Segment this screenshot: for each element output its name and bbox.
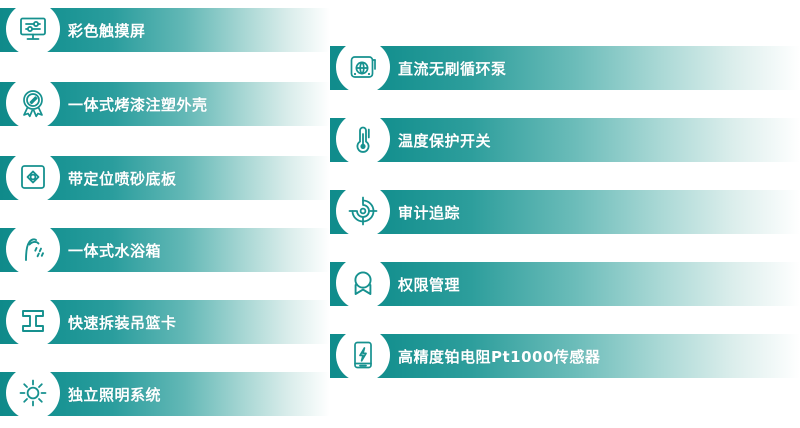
feature-label: 一体式水浴箱 — [68, 222, 161, 278]
feature-list-graphic: 彩色触摸屏 一体式烤漆注塑外壳 带定位喷砂底板 一体式水浴箱 快速拆装吊篮卡 — [0, 0, 800, 428]
feature-row: 快速拆装吊篮卡 — [0, 294, 330, 350]
icon-bubble — [336, 112, 390, 166]
feature-row: 直流无刷循环泵 — [330, 40, 800, 96]
award-ribbon-icon — [17, 87, 49, 119]
feature-row: 权限管理 — [330, 256, 800, 312]
icon-bubble — [336, 184, 390, 238]
feature-label: 高精度铂电阻Pt1000传感器 — [398, 328, 600, 384]
icon-bubble — [6, 2, 60, 56]
lightning-sensor-icon — [347, 339, 379, 371]
feature-label: 快速拆装吊篮卡 — [68, 294, 177, 350]
target-crosshair-icon — [347, 195, 379, 227]
icon-bubble — [6, 76, 60, 130]
feature-label: 独立照明系统 — [68, 366, 161, 422]
icon-bubble — [336, 40, 390, 94]
feature-label: 审计追踪 — [398, 184, 460, 240]
feature-row: 彩色触摸屏 — [0, 2, 330, 58]
feature-row: 带定位喷砂底板 — [0, 150, 330, 206]
i-beam-clamp-icon — [17, 305, 49, 337]
feature-label: 直流无刷循环泵 — [398, 40, 507, 96]
icon-bubble — [6, 150, 60, 204]
circulation-pump-icon — [347, 51, 379, 83]
feature-label: 权限管理 — [398, 256, 460, 312]
sun-light-icon — [17, 377, 49, 409]
icon-bubble — [336, 328, 390, 382]
icon-bubble — [6, 294, 60, 348]
feature-label: 温度保护开关 — [398, 112, 491, 168]
feature-label: 彩色触摸屏 — [68, 2, 146, 58]
user-badge-icon — [347, 267, 379, 299]
icon-bubble — [6, 366, 60, 420]
positioning-plate-icon — [17, 161, 49, 193]
feature-label: 带定位喷砂底板 — [68, 150, 177, 206]
shower-head-icon — [17, 233, 49, 265]
icon-bubble — [336, 256, 390, 310]
feature-row: 一体式烤漆注塑外壳 — [0, 76, 330, 132]
touchscreen-monitor-icon — [17, 13, 49, 45]
icon-bubble — [6, 222, 60, 276]
feature-row: 一体式水浴箱 — [0, 222, 330, 278]
thermometer-icon — [347, 123, 379, 155]
feature-row: 审计追踪 — [330, 184, 800, 240]
feature-row: 温度保护开关 — [330, 112, 800, 168]
feature-row: 高精度铂电阻Pt1000传感器 — [330, 328, 800, 384]
feature-label: 一体式烤漆注塑外壳 — [68, 76, 208, 132]
feature-row: 独立照明系统 — [0, 366, 330, 422]
